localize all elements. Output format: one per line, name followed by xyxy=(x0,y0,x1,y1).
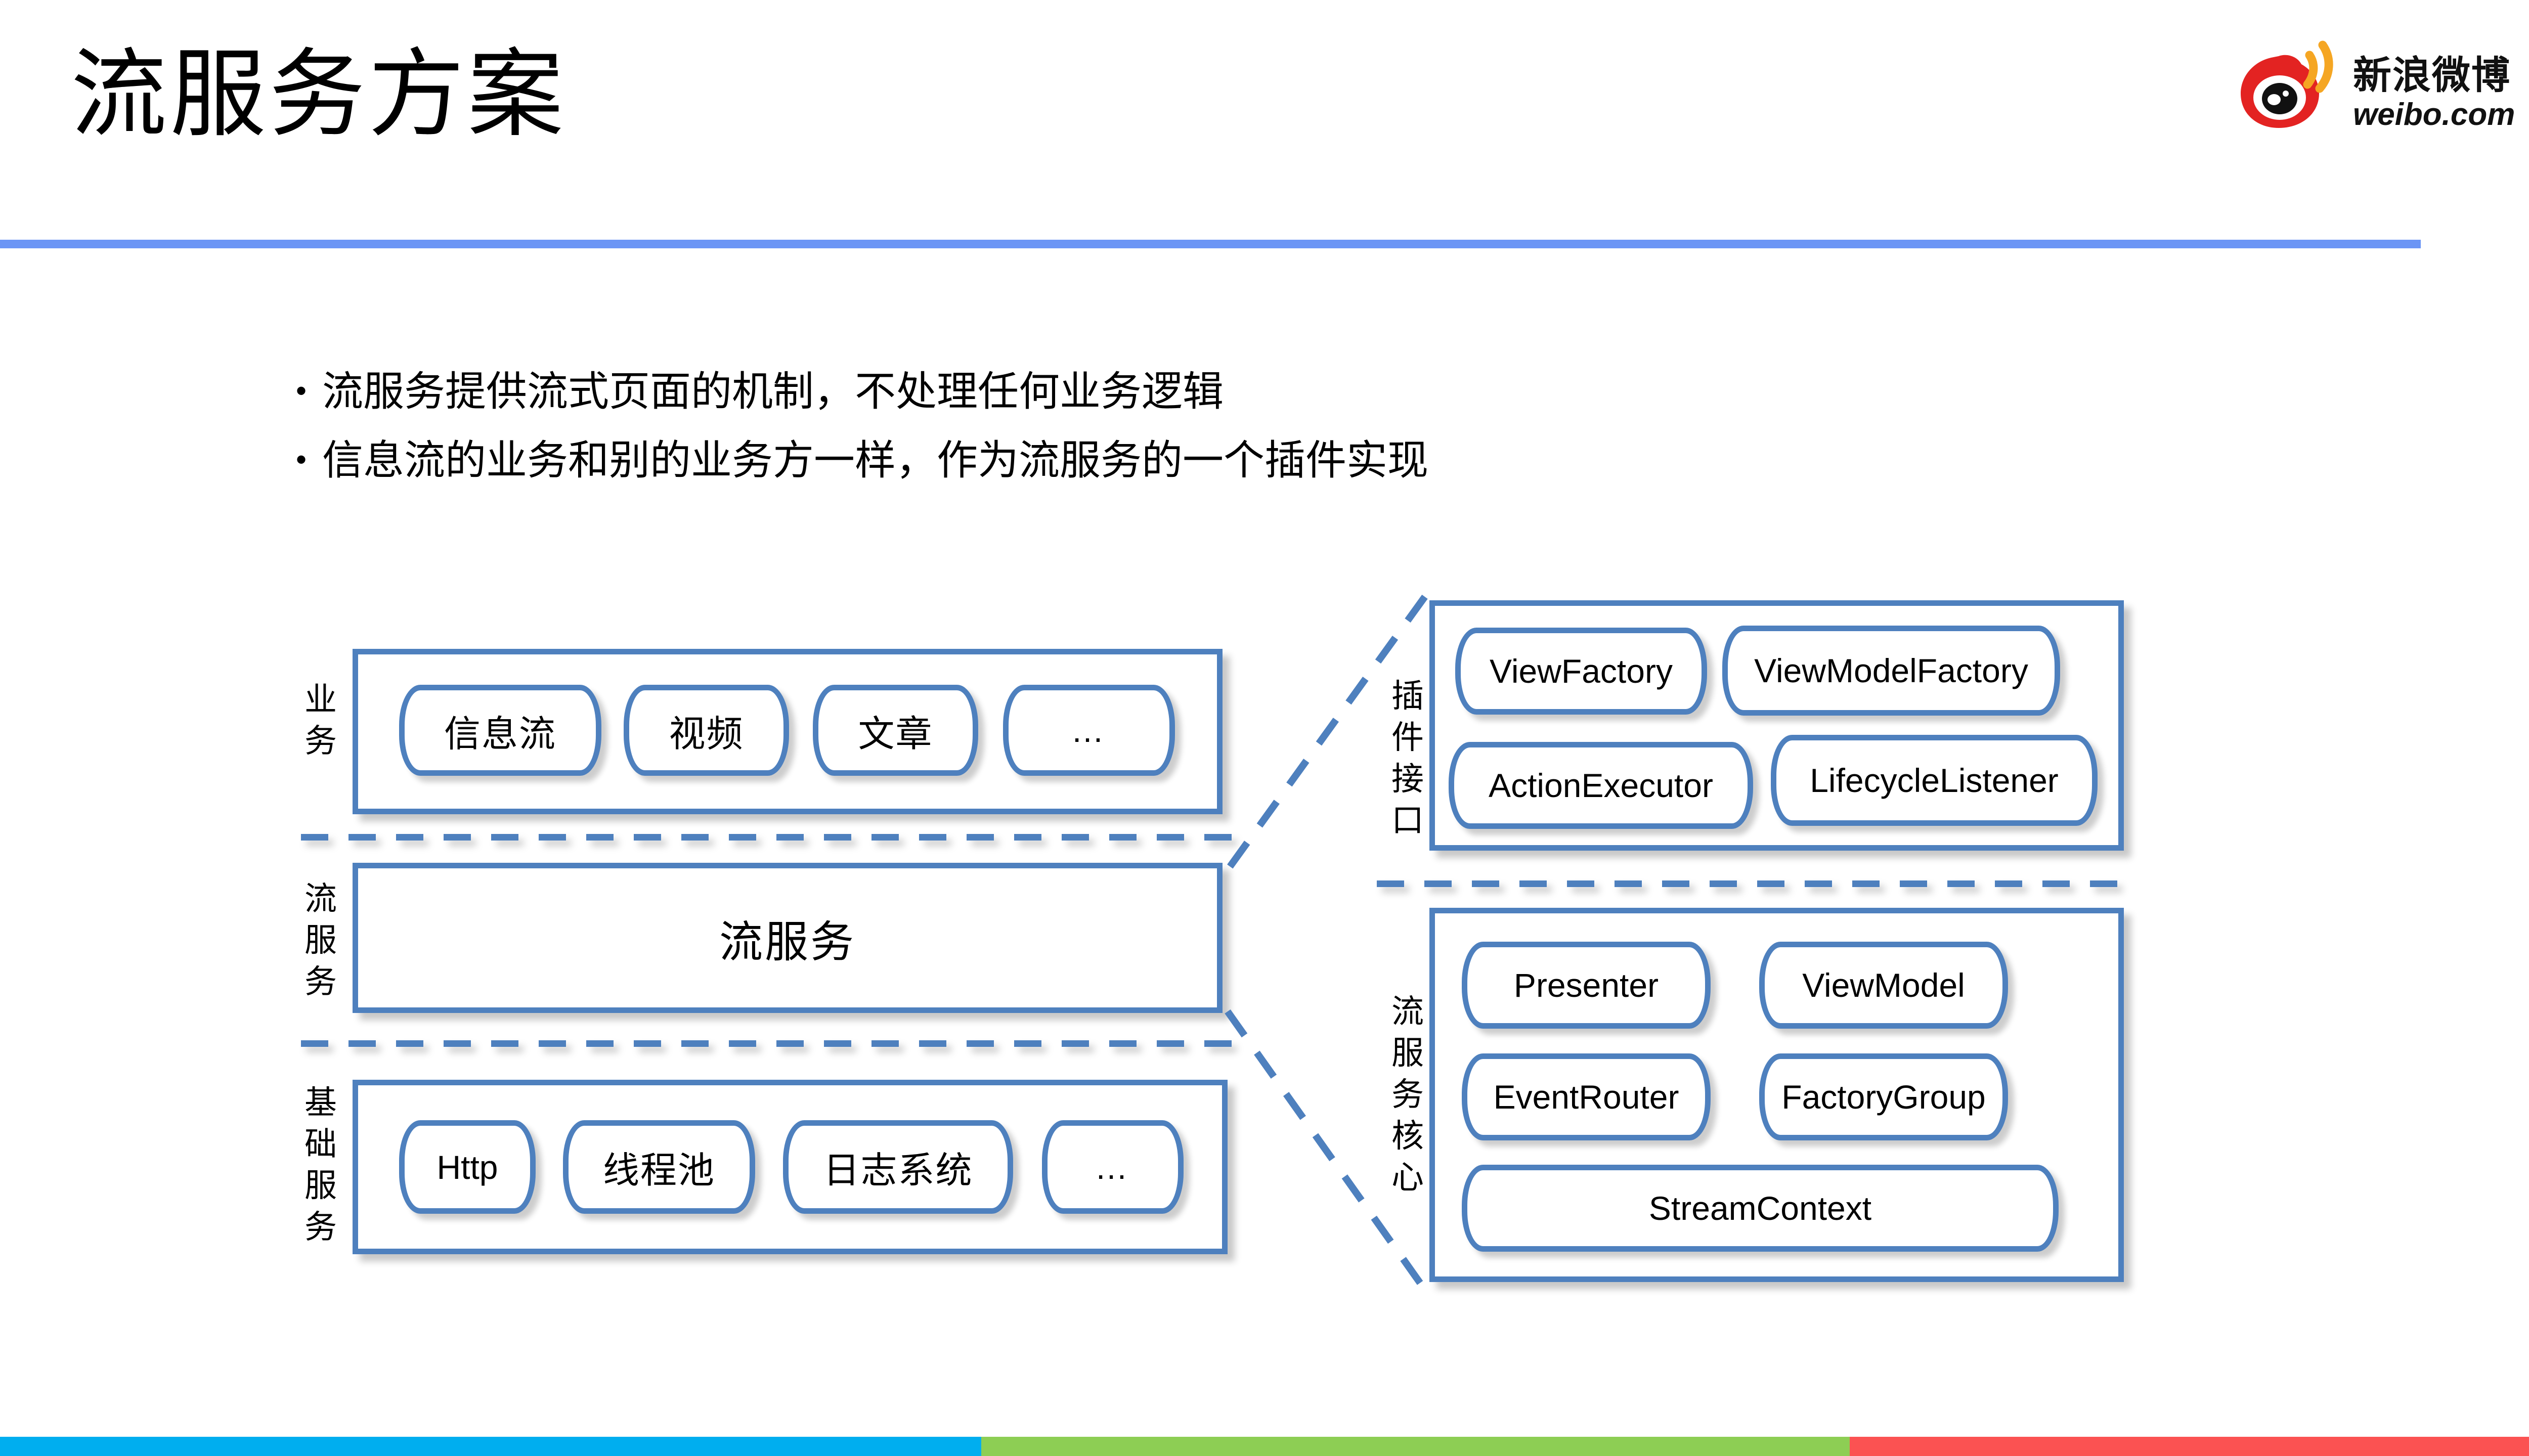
label-char: 服 xyxy=(304,920,337,961)
footer-segment-green xyxy=(981,1437,1850,1456)
right-panel-1-label: 插 件 接 口 xyxy=(1383,668,1432,850)
pill-label: LifecycleListener xyxy=(1810,761,2059,800)
right-panel-1-item-3[interactable]: LifecycleListener xyxy=(1771,735,2098,826)
pill-label: Presenter xyxy=(1514,966,1659,1004)
left-layer-1-item-2[interactable]: 文章 xyxy=(813,685,978,776)
pill-label: … xyxy=(1071,711,1107,749)
pill-label: Http xyxy=(437,1148,498,1186)
label-char: 务 xyxy=(304,961,337,1003)
left-layer-3-item-2[interactable]: 日志系统 xyxy=(783,1120,1013,1214)
label-char: 础 xyxy=(304,1124,337,1165)
left-separator-1 xyxy=(301,834,1232,841)
pill-label: ActionExecutor xyxy=(1489,766,1713,805)
pill-label: 文章 xyxy=(858,704,933,757)
pill-label: ViewModelFactory xyxy=(1754,651,2028,690)
label-char: 核 xyxy=(1391,1116,1424,1157)
label-char: 流 xyxy=(1391,991,1424,1033)
pill-label: 线程池 xyxy=(603,1140,715,1194)
right-panel-2-item-1[interactable]: ViewModel xyxy=(1759,942,2008,1029)
label-char: 流 xyxy=(304,878,337,920)
left-layer-2-item-0: 流服务 xyxy=(353,863,1223,1013)
label-char: 务 xyxy=(1391,1074,1424,1116)
slide-root: 流服务方案 新浪微博 weibo.com • 流服务提供流式页面的机制，不处理任… xyxy=(0,0,2529,1456)
pill-label: FactoryGroup xyxy=(1781,1078,1985,1116)
box-title-label: 流服务 xyxy=(719,906,856,969)
label-char: 件 xyxy=(1391,717,1424,759)
right-panel-2-label: 流 服 务 核 心 xyxy=(1383,981,1432,1209)
left-layer-1-item-0[interactable]: 信息流 xyxy=(399,685,601,776)
left-layer-3-item-1[interactable]: 线程池 xyxy=(563,1120,755,1214)
right-panel-2-item-0[interactable]: Presenter xyxy=(1462,942,1711,1029)
pill-label: … xyxy=(1095,1148,1131,1186)
label-char: 插 xyxy=(1391,676,1424,717)
footer-segment-cyan xyxy=(0,1437,981,1456)
pill-label: StreamContext xyxy=(1649,1189,1871,1227)
label-char: 务 xyxy=(304,1207,337,1248)
label-char: 心 xyxy=(1391,1157,1424,1199)
right-panel-2-item-3[interactable]: FactoryGroup xyxy=(1759,1053,2008,1140)
pill-label: 信息流 xyxy=(444,704,556,757)
left-layer-3-item-0[interactable]: Http xyxy=(399,1120,536,1214)
left-layer-3-label: 基 础 服 务 xyxy=(296,1074,345,1256)
right-panel-1-item-2[interactable]: ActionExecutor xyxy=(1449,742,1753,829)
label-char: 接 xyxy=(1391,759,1424,800)
label-char: 服 xyxy=(304,1165,337,1207)
right-panel-1-item-1[interactable]: ViewModelFactory xyxy=(1722,626,2060,716)
right-panel-1-item-0[interactable]: ViewFactory xyxy=(1455,628,1707,715)
architecture-diagram: 业 务 信息流 视频 文章 … 流 服 务 流服务 xyxy=(0,0,2529,1456)
pill-label: ViewFactory xyxy=(1490,652,1673,690)
pill-label: ViewModel xyxy=(1802,966,1965,1004)
footer-segment-red xyxy=(1850,1437,2529,1456)
pill-label: 日志系统 xyxy=(823,1140,973,1194)
right-panel-2-item-4[interactable]: StreamContext xyxy=(1462,1165,2059,1252)
pill-label: EventRouter xyxy=(1494,1078,1679,1116)
pill-label: 视频 xyxy=(669,704,744,757)
left-layer-1-item-1[interactable]: 视频 xyxy=(624,685,789,776)
left-layer-1-item-3[interactable]: … xyxy=(1003,685,1175,776)
right-panel-2-item-2[interactable]: EventRouter xyxy=(1462,1053,1711,1140)
label-char: 基 xyxy=(304,1082,337,1124)
right-separator-1 xyxy=(1377,880,2125,887)
label-char: 业 xyxy=(304,679,337,721)
label-char: 口 xyxy=(1391,800,1424,842)
left-layer-3-item-3[interactable]: … xyxy=(1042,1120,1184,1214)
left-separator-2 xyxy=(301,1040,1232,1047)
left-layer-2-label: 流 服 务 xyxy=(296,867,345,1014)
footer-color-bar xyxy=(0,1437,2529,1456)
label-char: 服 xyxy=(1391,1033,1424,1074)
label-char: 务 xyxy=(304,721,337,762)
left-layer-1-label: 业 务 xyxy=(296,663,345,779)
